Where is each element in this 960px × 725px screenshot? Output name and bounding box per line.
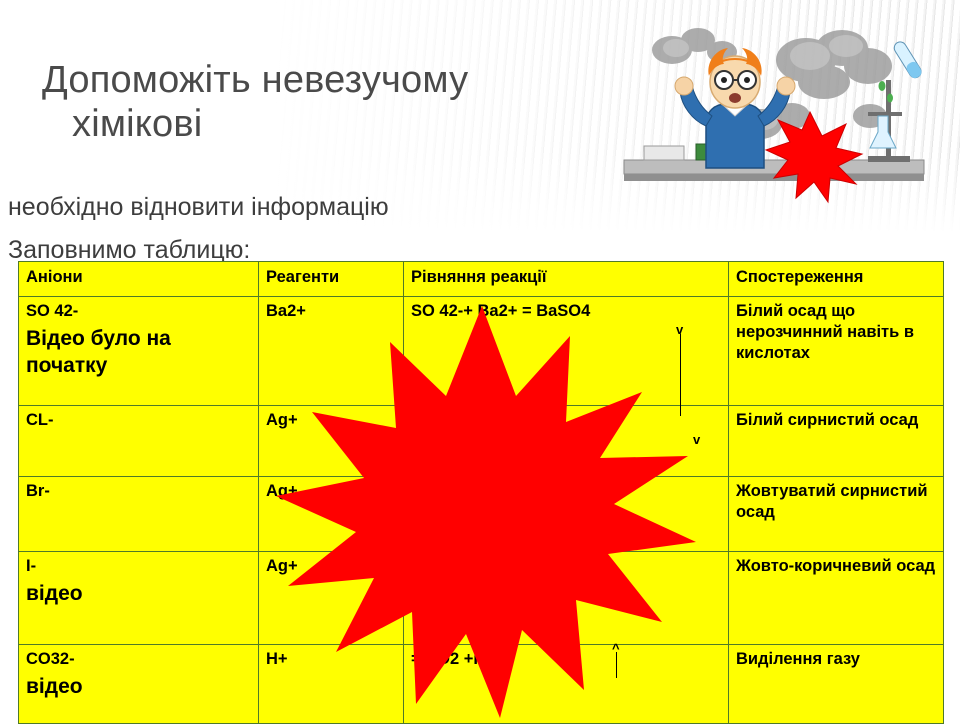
- arrow-line-row5: [616, 652, 617, 678]
- cell-anion: Br-: [19, 477, 259, 552]
- cell-equation: = AgCL: [404, 406, 729, 477]
- cell-anion: CL-: [19, 406, 259, 477]
- table-row: SO 42- Відео було на початку Ba2+ SO 42-…: [19, 297, 944, 406]
- header-reagents: Реагенти: [259, 262, 404, 297]
- cell-observation: Білий сирнистий осад: [729, 406, 944, 477]
- anion-note: відео: [26, 673, 252, 700]
- arrow-line-row1: [680, 334, 681, 416]
- page-title-line-1: Допоможіть невезучому: [42, 59, 468, 101]
- table-row: CO32- відео H+ = CO2 +H2O Виділення газу: [19, 645, 944, 724]
- cell-observation: Виділення газу: [729, 645, 944, 724]
- gas-arrow-row2: v: [693, 432, 700, 447]
- cell-reagent: Ba2+: [259, 297, 404, 406]
- reactions-table-wrapper: Аніони Реагенти Рівняння реакції Спостер…: [18, 261, 943, 724]
- chemist-explosion-illustration: [610, 20, 940, 205]
- cell-anion: SO 42- Відео було на початку: [19, 297, 259, 406]
- header-anions: Аніони: [19, 262, 259, 297]
- table-row: CL- Ag+ = AgCL Білий сирнистий осад: [19, 406, 944, 477]
- cell-equation: = CO2 +H2O: [404, 645, 729, 724]
- cell-anion: CO32- відео: [19, 645, 259, 724]
- anion-formula: SO 42-: [26, 302, 78, 320]
- header-observation: Спостереження: [729, 262, 944, 297]
- subtitle-restore-info: необхідно відновити інформацію: [8, 193, 389, 222]
- cell-observation: Жовтуватий сирнистий осад: [729, 477, 944, 552]
- cell-equation: [404, 477, 729, 552]
- cell-reagent: Ag+: [259, 552, 404, 645]
- cell-reagent: Ag+: [259, 406, 404, 477]
- table-row: I- відео Ag+ =AgI Жовто-коричневий осад: [19, 552, 944, 645]
- anion-note: Відео було на початку: [26, 325, 252, 380]
- page-title-line-2: хімікові: [42, 102, 602, 146]
- anion-formula: I-: [26, 557, 36, 575]
- cell-reagent: H+: [259, 645, 404, 724]
- cell-observation: Білий осад що нерозчинний навіть в кисло…: [729, 297, 944, 406]
- table-header-row: Аніони Реагенти Рівняння реакції Спостер…: [19, 262, 944, 297]
- cell-reagent: Ag+: [259, 477, 404, 552]
- reactions-table: Аніони Реагенти Рівняння реакції Спостер…: [18, 261, 944, 724]
- page-title: Допоможіть невезучому хімікові: [42, 58, 602, 146]
- header-equation: Рівняння реакції: [404, 262, 729, 297]
- anion-formula: CO32-: [26, 650, 75, 668]
- table-row: Br- Ag+ Жовтуватий сирнистий осад: [19, 477, 944, 552]
- cell-anion: I- відео: [19, 552, 259, 645]
- anion-note: відео: [26, 580, 252, 607]
- cell-observation: Жовто-коричневий осад: [729, 552, 944, 645]
- cell-equation: =AgI: [404, 552, 729, 645]
